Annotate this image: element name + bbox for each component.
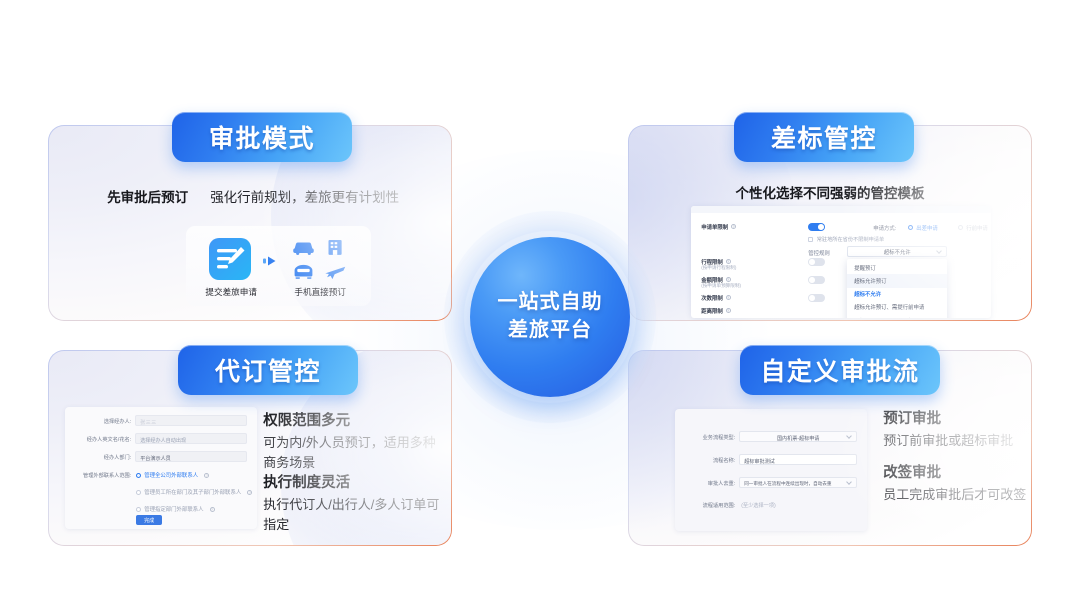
text-heading: 权限范围多元 [263, 411, 448, 433]
row-label-count-limit: 次数限制? [701, 294, 731, 302]
approval-flow-illustration: 提交差旅申请 手机直接预订 [186, 226, 371, 306]
arrow-right-icon [263, 254, 279, 266]
field-label: 业务流程类型: [675, 434, 735, 441]
center-circle: 一站式自助 差旅平台 [470, 237, 630, 397]
menu-item[interactable]: 超标允许预订 [847, 274, 947, 287]
menu-item-selected[interactable]: 超标不允许 [847, 288, 947, 301]
pill-label: 差标管控 [771, 119, 877, 155]
row-label-distance-limit: 距离限制? [701, 307, 731, 315]
field-label: 审批人去重: [675, 480, 735, 487]
radio-manage-specified-dept[interactable]: 管理指定部门外部联系人? [136, 505, 214, 513]
approval-mode-headline: 先审批后预订强化行前规划，差旅更有计划性 [107, 186, 399, 207]
toggle-amount-limit[interactable] [808, 276, 825, 284]
pill-label: 自定义审批流 [760, 352, 919, 388]
text-body: 员工完成审批后才可改签 [883, 485, 1031, 505]
text-body: 可为内/外人员预订，适用多种商务场景 [263, 433, 448, 473]
submit-button[interactable]: 完成 [136, 515, 162, 525]
text-body: 执行代订人/出行人/多人订单可指定 [263, 495, 448, 535]
toggle-itinerary-limit[interactable] [808, 258, 825, 266]
row-sub-itinerary-limit: (按申请行程限制) [701, 265, 736, 271]
radio-apply-business-trip[interactable]: 出差申请 [908, 224, 938, 232]
pill-travel-standard-control[interactable]: 差标管控 [734, 112, 914, 162]
travel-standard-screenshot: 申请单限制? 申请方式: 出差申请 行前申请 常驻地所在省份不限制申请单 管控规… [691, 206, 991, 318]
center-title-line1: 一站式自助 [498, 289, 603, 317]
radio-group-label: 管理外部联系人范围: [65, 472, 131, 479]
text-heading: 改签审批 [883, 463, 1031, 485]
radio-manage-all-company[interactable]: 管理全公司外部联系人? [136, 471, 209, 479]
booking-icons [288, 235, 350, 283]
train-icon [288, 260, 318, 283]
field-label: 流程适用范围: [675, 502, 735, 509]
field-flow-name[interactable]: 超标审批测试 [739, 454, 857, 465]
row-label-application-limit: 申请单限制? [701, 223, 736, 231]
pill-custom-approval-flow[interactable]: 自定义审批流 [740, 345, 940, 395]
menu-item[interactable]: 超标允许预订、需提超标申请 [847, 314, 947, 318]
field-scope-hint: (至少选择一项) [741, 502, 859, 509]
infographic-canvas: 先审批后预订强化行前规划，差旅更有计划性 [0, 0, 1080, 608]
field-operator-english-name[interactable]: 选择经办人自动出现 [135, 433, 247, 444]
pill-label: 审批模式 [209, 119, 315, 155]
document-edit-icon [208, 237, 252, 281]
travel-standard-headline: 个性化选择不同强弱的管控模板 [629, 182, 1031, 202]
rule-label: 管控规则 [808, 249, 830, 257]
approval-flow-form: 业务流程类型: 国内机票-超标申请 流程名称: 超标审批测试 审批人去重: 同一… [675, 409, 867, 531]
pill-proxy-booking-control[interactable]: 代订管控 [178, 345, 358, 395]
center-hub: 一站式自助 差旅平台 [470, 237, 630, 397]
text-body: 预订前审批或超标审批 [883, 431, 1031, 451]
toggle-count-limit[interactable] [808, 294, 825, 302]
field-label: 经办人英文名/花名: [65, 436, 131, 443]
menu-item[interactable]: 提醒预订 [847, 261, 947, 274]
headline-normal: 强化行前规划，差旅更有计划性 [210, 190, 399, 205]
field-label: 经办人部门: [65, 454, 131, 461]
rule-options-menu[interactable]: 提醒预订 超标允许预订 超标不允许 超标允许预订、需提行前申请 超标允许预订、需… [847, 259, 947, 318]
hotel-icon [320, 235, 350, 258]
text-heading: 预订审批 [883, 409, 1031, 431]
rule-select[interactable]: 超标不允许 [847, 246, 947, 257]
radio-apply-pre-trip[interactable]: 行前申请 [958, 224, 988, 232]
radio-manage-dept-and-sub[interactable]: 管理员工所在部门及其子部门外部联系人? [136, 488, 252, 496]
field-label: 选择经办人: [65, 418, 131, 425]
plane-icon [320, 260, 350, 283]
field-approver-dedupe[interactable]: 同一审批人在流程中连续出现时，自动去重 [739, 477, 857, 488]
field-label: 流程名称: [675, 457, 735, 464]
field-business-flow-type[interactable]: 国内机票-超标申请 [739, 431, 857, 442]
illustration-right-caption: 手机直接预订 [281, 286, 359, 298]
field-operator[interactable]: 张三三 [135, 415, 247, 426]
apply-method-label: 申请方式: [873, 224, 896, 232]
headline-bold: 先审批后预订 [107, 190, 188, 205]
proxy-booking-text-blocks: 权限范围多元 可为内/外人员预订，适用多种商务场景 执行制度灵活 执行代订人/出… [263, 411, 448, 535]
pill-label: 代订管控 [215, 352, 321, 388]
row-sub-amount-limit: (按申请单预算限制) [701, 283, 741, 289]
text-heading: 执行制度灵活 [263, 473, 448, 495]
proxy-booking-form: 选择经办人: 张三三 经办人英文名/花名: 选择经办人自动出现 经办人部门: 平… [65, 407, 257, 529]
pill-approval-mode[interactable]: 审批模式 [172, 112, 352, 162]
toggle-application-limit[interactable] [808, 223, 825, 231]
checkbox-resident-province[interactable]: 常驻地所在省份不限制申请单 [808, 236, 884, 243]
approval-flow-text-blocks: 预订审批 预订前审批或超标审批 改签审批 员工完成审批后才可改签 [883, 409, 1031, 505]
illustration-left-caption: 提交差旅申请 [192, 286, 270, 298]
car-icon [288, 235, 318, 258]
center-title-line2: 差旅平台 [508, 317, 592, 345]
field-operator-department[interactable]: 平台演示人员 [135, 451, 247, 462]
menu-item[interactable]: 超标允许预订、需提行前申请 [847, 301, 947, 314]
